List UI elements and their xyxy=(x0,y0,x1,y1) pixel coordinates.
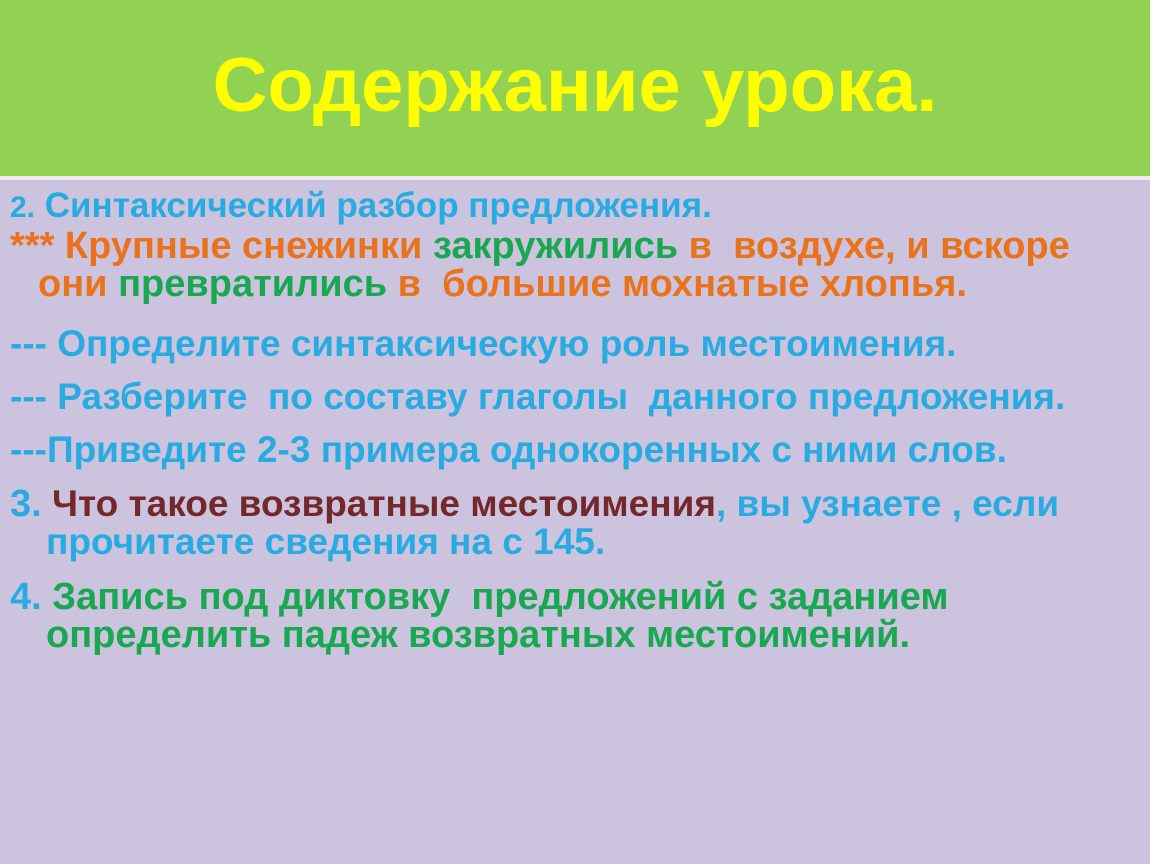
dash-marker: --- xyxy=(10,323,47,364)
dash-item-2: --- Разберите по составу глаголы данного… xyxy=(10,378,1144,415)
list-item-4: 4. Запись под диктовку предложений с зад… xyxy=(10,578,1144,654)
dash-item-1-label: Определите синтаксическую роль местоимен… xyxy=(47,323,956,364)
list-item-2-label: Синтаксический разбор предложения. xyxy=(35,186,712,225)
list-item-3-maroon-text: Что такое возвратные местоимения xyxy=(42,483,716,524)
page-title: Содержание урока. xyxy=(213,48,938,128)
list-item-2: 2. Синтаксический разбор предложения. xyxy=(10,188,1144,223)
asterisk-marker: *** xyxy=(10,225,54,267)
sentence-segment-1: Крупные снежинки xyxy=(54,225,433,267)
sentence-segment-3: в большие мохнатые хлопья. xyxy=(387,263,967,305)
dash-item-1: --- Определите синтаксическую роль место… xyxy=(10,325,1144,362)
list-item-3-number: 3. xyxy=(10,483,42,525)
dash-item-2-label: Разберите по составу глаголы данного пре… xyxy=(47,376,1065,417)
slide-body: 2. Синтаксический разбор предложения. **… xyxy=(0,180,1150,864)
list-item-4-number: 4. xyxy=(10,576,42,618)
sentence-verb-2: превратились xyxy=(118,263,387,305)
dash-marker: --- xyxy=(10,376,47,417)
dash-item-3: ---Приведите 2-3 примера однокоренных с … xyxy=(10,431,1144,468)
dash-marker: --- xyxy=(10,429,47,470)
list-item-4-label: Запись под диктовку предложений с задани… xyxy=(42,576,959,656)
example-sentence: *** Крупные снежинки закружились в возду… xyxy=(10,227,1144,303)
title-banner: Содержание урока. xyxy=(0,0,1150,176)
sentence-verb-1: закружились xyxy=(433,225,678,267)
dash-item-3-label: Приведите 2-3 примера однокоренных с ним… xyxy=(47,429,1007,470)
slide: Содержание урока. 2. Синтаксический разб… xyxy=(0,0,1150,864)
list-item-2-number: 2. xyxy=(10,191,35,224)
list-item-3: 3. Что такое возвратные местоимения, вы … xyxy=(10,485,1144,560)
